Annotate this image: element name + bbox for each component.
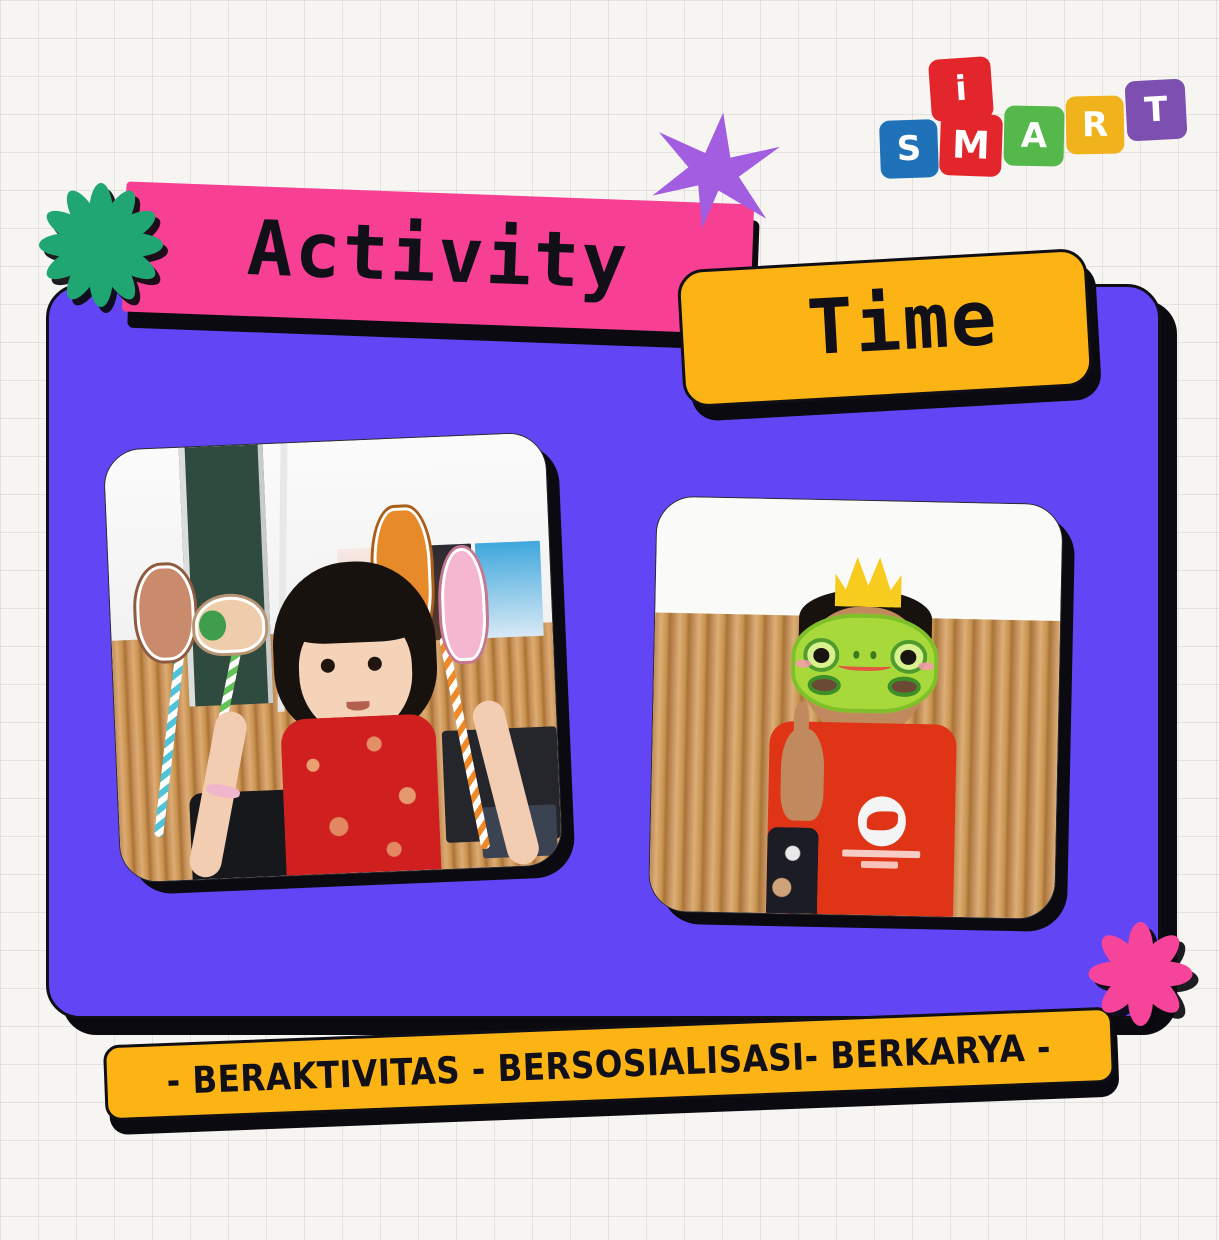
activity-banner-label: Activity [246,210,631,300]
time-banner-body: Time [676,248,1093,409]
photo-card-puppets[interactable] [115,443,576,895]
shirt-logo-subtext [860,861,897,868]
logo-tile-a: A [1003,105,1064,166]
shirt-logo [857,796,907,847]
photo-card-frog-mask[interactable] [660,508,1076,932]
frog-eye-left [803,638,841,673]
bangs [288,596,420,645]
frog-pupil-left [813,648,830,663]
boy-subject [762,582,963,917]
logo-tile-t: T [1124,78,1187,141]
frog-nostril-left [853,651,860,659]
time-banner-label: Time [805,280,1000,367]
logo-tile-s: S [879,119,939,179]
frog-mask [790,612,940,714]
frog-pupil-right [900,650,917,665]
frog-smile [838,661,891,672]
poster-canvas: Activity Time - BERAKTIVITAS - BERSOSIAL… [0,0,1219,1240]
girl-subject [250,557,466,876]
pink-flower-icon [1084,918,1196,1030]
mask-eyehole-left [808,675,841,696]
mask-eyehole-right [888,677,921,698]
green-flower-icon [26,170,176,320]
thumb [793,701,810,748]
logo-tile-m: M [939,113,1003,177]
red-cheongsam [281,714,442,876]
photo-image-frog-mask [648,496,1064,920]
photo-image-puppets [103,431,564,883]
frog-nostril-right [870,651,877,659]
scene-classroom [104,432,563,882]
frog-snout [850,651,880,660]
logo-tile-r: R [1065,95,1124,154]
sleeve-pattern [766,827,818,914]
logo-tile-i: i [928,56,994,122]
time-banner: Time [676,248,1093,409]
scene-wood-wall [649,497,1063,919]
ismart-logo: i S M A R T [876,58,1191,178]
activity-banner: Activity [122,182,754,335]
shirt-logo-text [842,849,921,858]
activity-banner-body: Activity [122,182,754,335]
